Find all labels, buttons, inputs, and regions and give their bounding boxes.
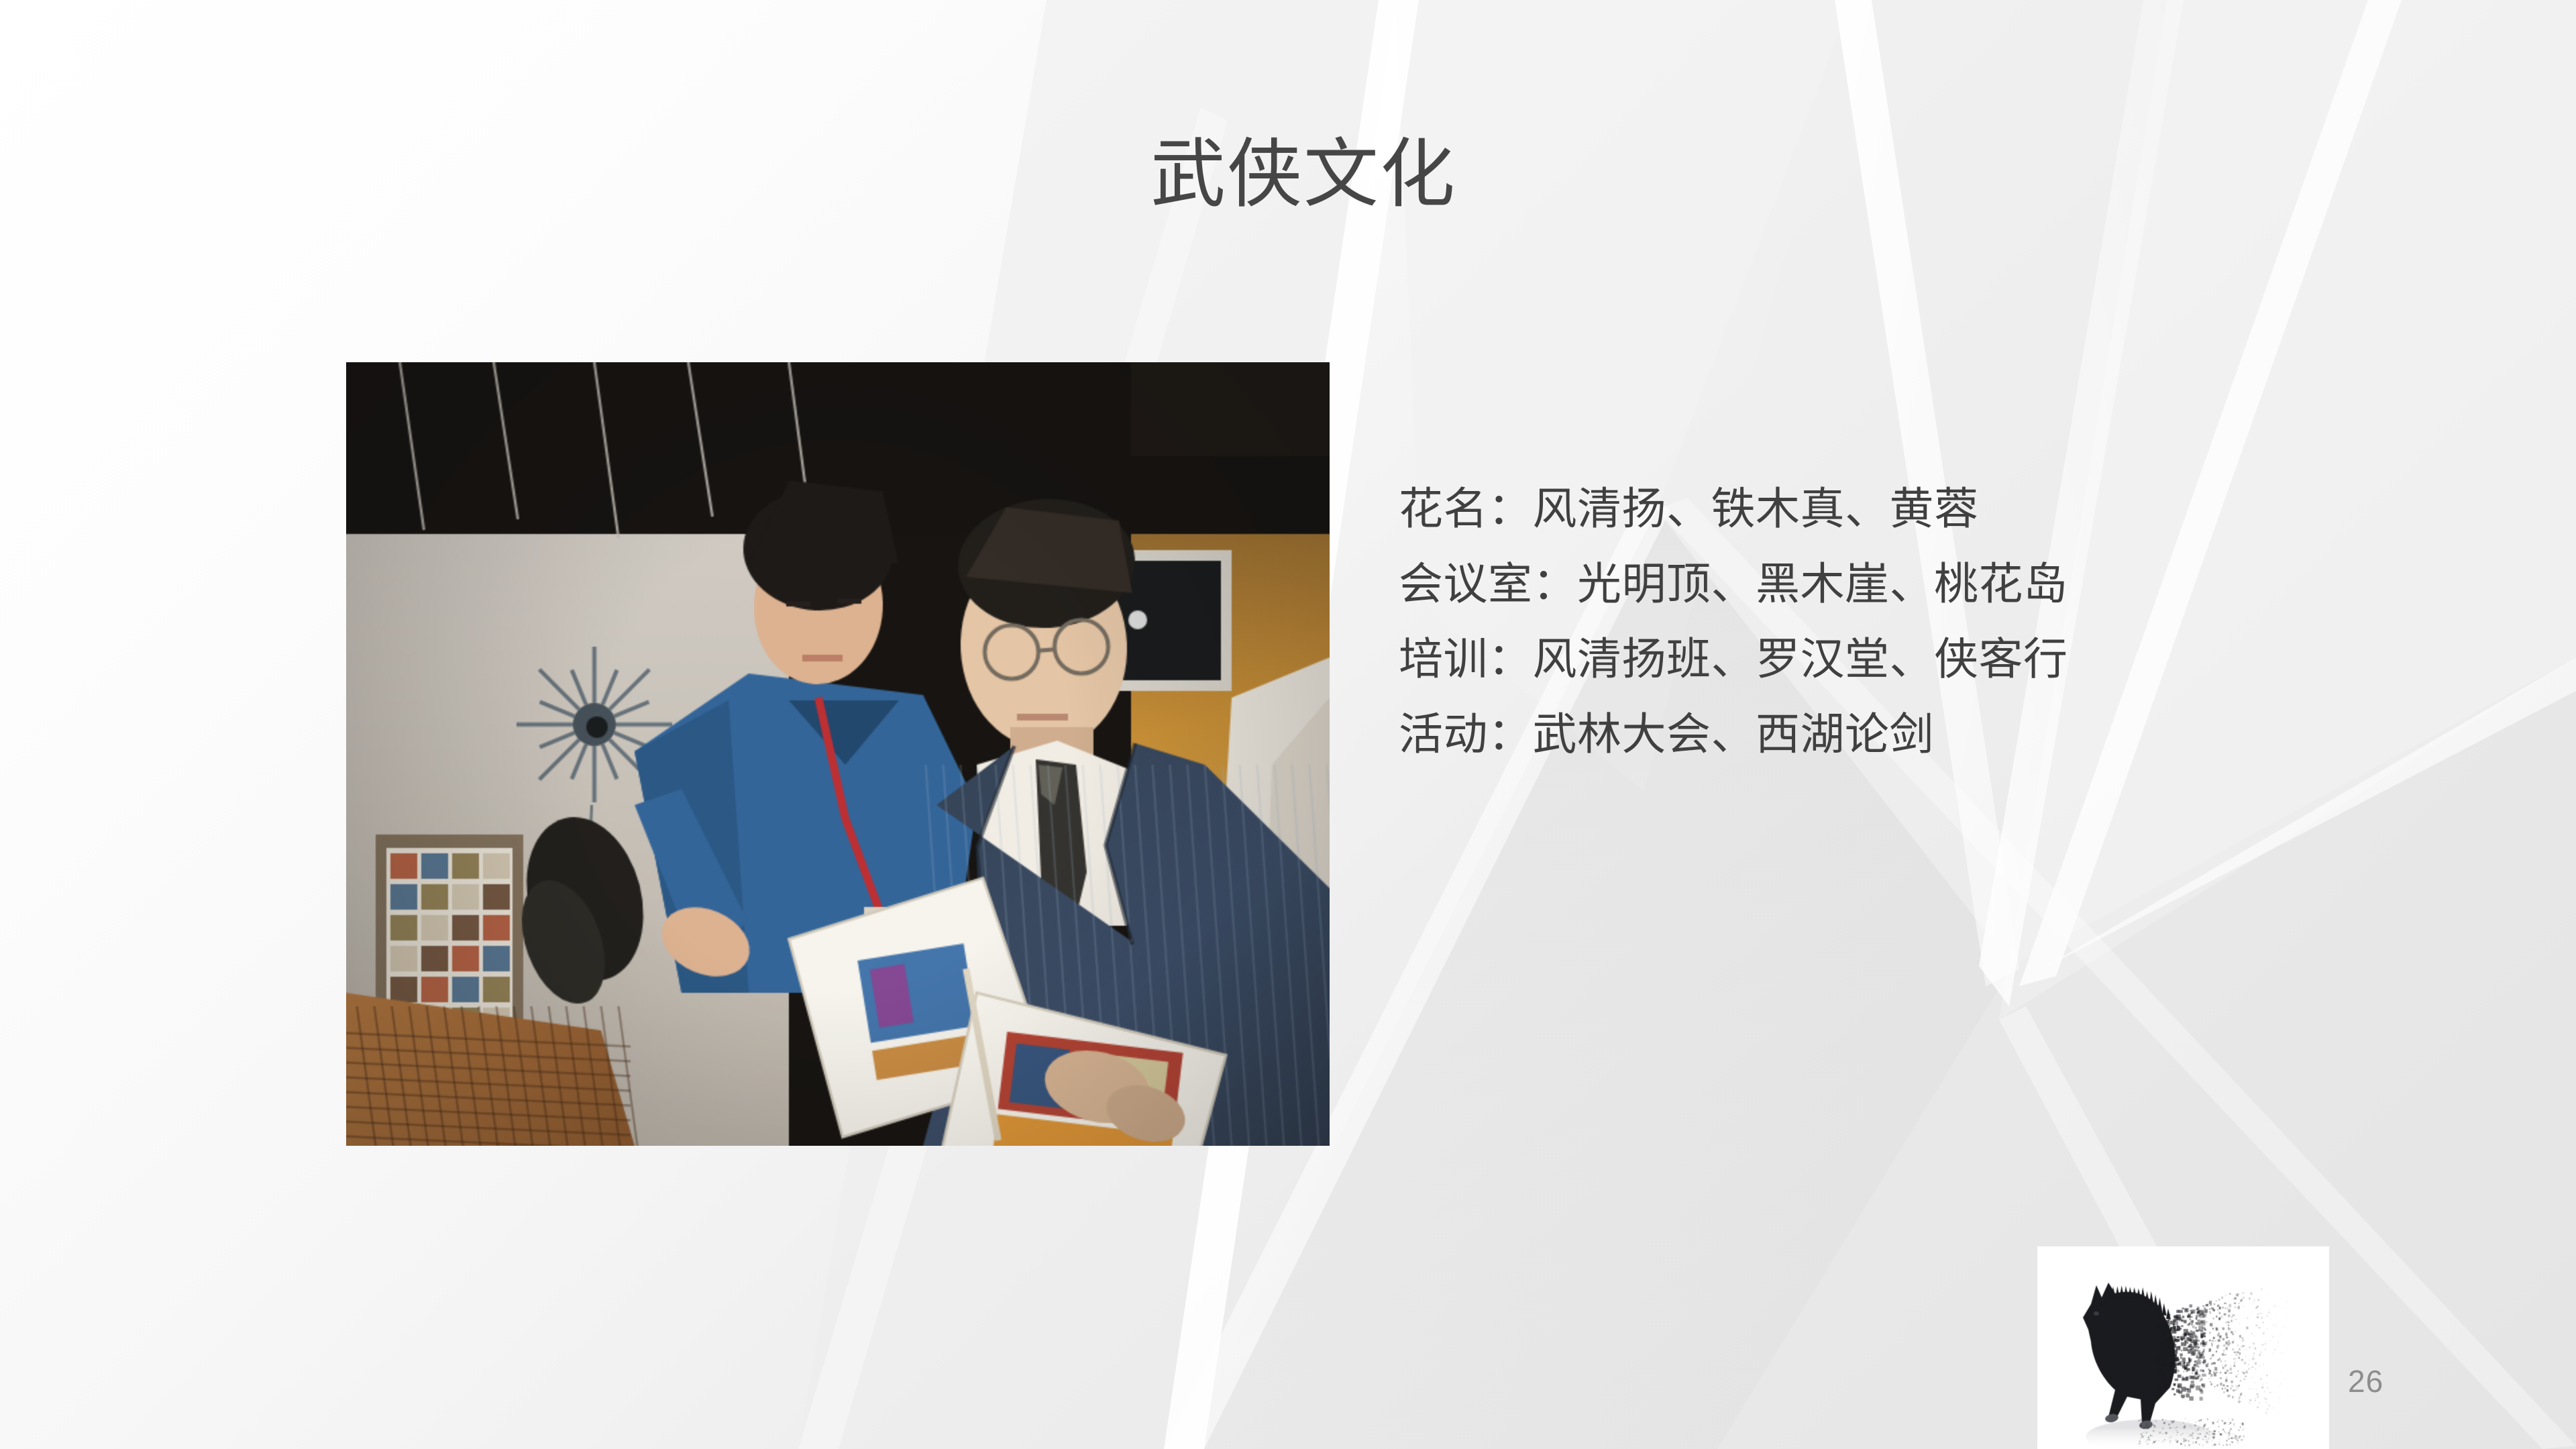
slide-canvas: 武侠文化 花名：风清扬、铁木真、黄蓉 会议室：光明顶、黑木崖、桃花岛 培训：风清… <box>0 0 2576 1449</box>
photo-jack-ma-and-jin-yong <box>346 362 1330 1146</box>
page-number: 26 <box>2348 1363 2383 1399</box>
body-line-4: 活动：武林大会、西湖论剑 <box>1399 708 2405 761</box>
body-line-1: 花名：风清扬、铁木真、黄蓉 <box>1399 483 2405 535</box>
photo-canvas <box>346 362 1330 1146</box>
slide-title: 武侠文化 <box>1150 127 1456 221</box>
body-line-2: 会议室：光明顶、黑木崖、桃花岛 <box>1399 558 2405 610</box>
body-text-block: 花名：风清扬、铁木真、黄蓉 会议室：光明顶、黑木崖、桃花岛 培训：风清扬班、罗汉… <box>1399 483 2405 761</box>
horse-logo-canvas <box>2037 1246 2329 1449</box>
body-line-3: 培训：风清扬班、罗汉堂、侠客行 <box>1399 633 2405 686</box>
dispersing-horse-logo <box>2037 1246 2329 1449</box>
